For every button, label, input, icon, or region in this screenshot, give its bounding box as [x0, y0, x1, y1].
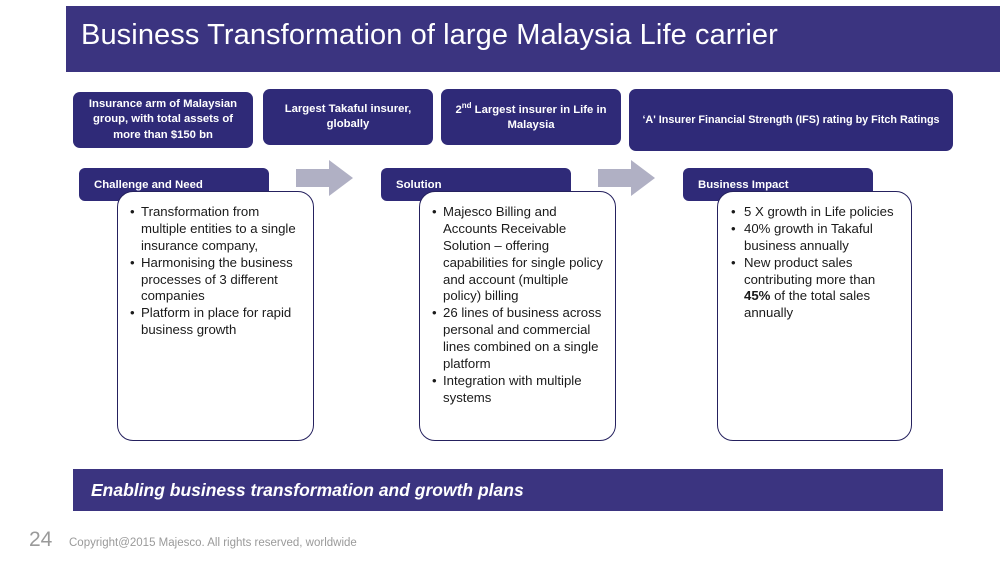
- impact-text-pre: New product sales contributing more than: [744, 255, 875, 287]
- fact-box-takaful: Largest Takaful insurer, globally: [263, 89, 433, 145]
- impact-bullet-list: 5 X growth in Life policies 40% growth i…: [730, 204, 901, 322]
- fact-ordinal-suffix: nd: [462, 101, 472, 110]
- right-arrow-icon: [598, 160, 655, 196]
- stage-body-challenge: Transformation from multiple entities to…: [117, 191, 314, 441]
- list-item: 5 X growth in Life policies: [730, 204, 901, 221]
- fact-box-life-rank: 2nd Largest insurer in Life in Malaysia: [441, 89, 621, 145]
- right-arrow-icon: [296, 160, 353, 196]
- fact-ordinal-rest: Largest insurer in Life in Malaysia: [472, 104, 607, 131]
- solution-bullet-list: Majesco Billing and Accounts Receivable …: [432, 204, 605, 407]
- list-item: Platform in place for rapid business gro…: [130, 305, 303, 339]
- key-facts-row: Insurance arm of Malaysian group, with t…: [73, 89, 953, 151]
- impact-percent-highlight: 45%: [744, 288, 770, 303]
- copyright-notice: Copyright@2015 Majesco. All rights reser…: [69, 537, 357, 549]
- challenge-bullet-list: Transformation from multiple entities to…: [130, 204, 303, 339]
- page-title: Business Transformation of large Malaysi…: [81, 19, 961, 52]
- list-item: Majesco Billing and Accounts Receivable …: [432, 204, 605, 305]
- list-item: Integration with multiple systems: [432, 373, 605, 407]
- list-item: Transformation from multiple entities to…: [130, 204, 303, 255]
- stage-body-impact: 5 X growth in Life policies 40% growth i…: [717, 191, 912, 441]
- page-number: 24: [29, 528, 52, 552]
- list-item: New product sales contributing more than…: [730, 255, 901, 323]
- stage-body-solution: Majesco Billing and Accounts Receivable …: [419, 191, 616, 441]
- summary-banner-text: Enabling business transformation and gro…: [91, 480, 524, 501]
- list-item: Harmonising the business processes of 3 …: [130, 255, 303, 306]
- list-item: 26 lines of business across personal and…: [432, 305, 605, 373]
- fact-box-fitch-rating: ‘A' Insurer Financial Strength (IFS) rat…: [629, 89, 953, 151]
- list-item: 40% growth in Takaful business annually: [730, 221, 901, 255]
- fact-box-assets: Insurance arm of Malaysian group, with t…: [73, 92, 253, 148]
